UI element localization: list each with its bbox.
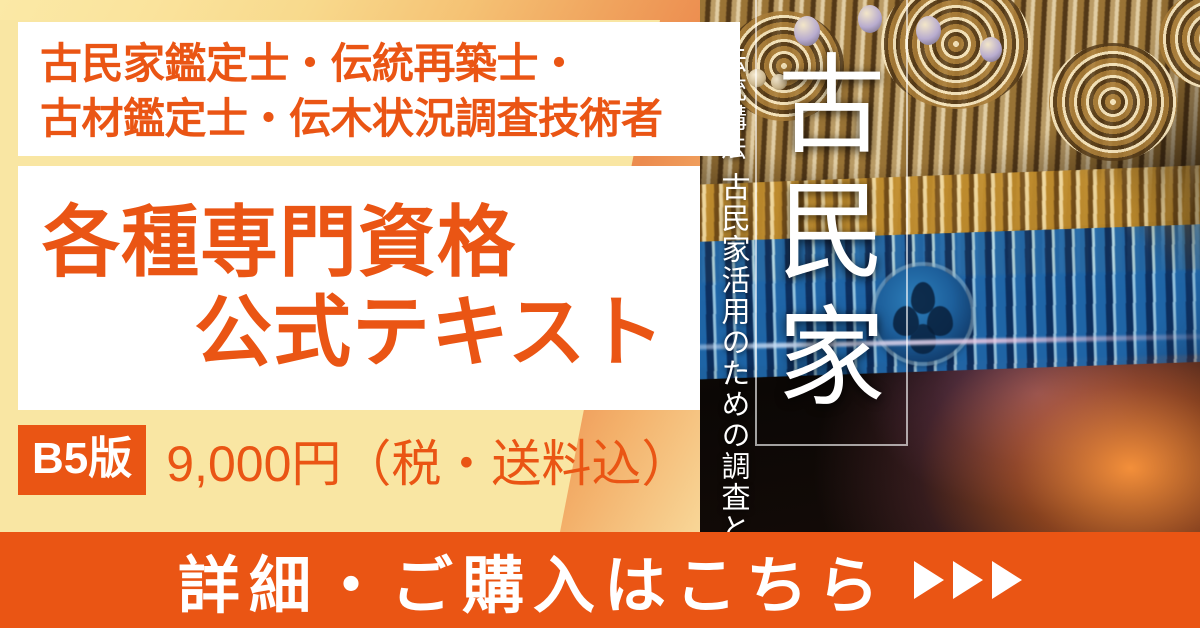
- heading-line-2: 古材鑑定士・伝木状況調査技術者: [40, 91, 663, 146]
- carved-bead: [916, 16, 941, 45]
- cover-subtitle-line-2: 古民家活用のための調査と再生の: [712, 172, 754, 532]
- price-label: 9,000円（税・送料込）: [166, 424, 691, 496]
- cover-title-char-1: 古: [777, 54, 885, 162]
- cover-title-frame: 古 民 家: [755, 0, 908, 446]
- cta-arrow-group: [914, 561, 1022, 599]
- price-row: B5版 9,000円（税・送料込）: [18, 424, 691, 496]
- triangle-right-icon: [914, 561, 944, 599]
- triangle-right-icon: [992, 561, 1022, 599]
- cta-label: 詳細・ご購入はこちら: [178, 535, 888, 625]
- heading-text-block: 古民家鑑定士・伝統再築士・ 古材鑑定士・伝木状況調査技術者: [40, 36, 663, 147]
- triangle-right-icon: [953, 561, 983, 599]
- carved-bead: [980, 37, 1002, 62]
- cover-title-char-3: 家: [777, 306, 885, 414]
- promo-banner: 伝統構法 古民家活用のための調査と再生の 古 民 家 古民家鑑定士・伝統再築士・…: [0, 0, 1200, 628]
- heading-panel: 古民家鑑定士・伝統再築士・ 古材鑑定士・伝木状況調査技術者: [18, 22, 740, 156]
- cta-button-bar[interactable]: 詳細・ご購入はこちら: [0, 532, 1200, 628]
- title-line-2: 公式テキスト: [194, 270, 666, 382]
- title-panel: 各種専門資格 公式テキスト: [18, 166, 700, 410]
- cover-title-char-2: 民: [777, 180, 885, 288]
- format-badge: B5版: [18, 425, 146, 495]
- carved-swirl-icon: [1049, 43, 1177, 161]
- heading-line-1: 古民家鑑定士・伝統再築士・: [40, 36, 663, 91]
